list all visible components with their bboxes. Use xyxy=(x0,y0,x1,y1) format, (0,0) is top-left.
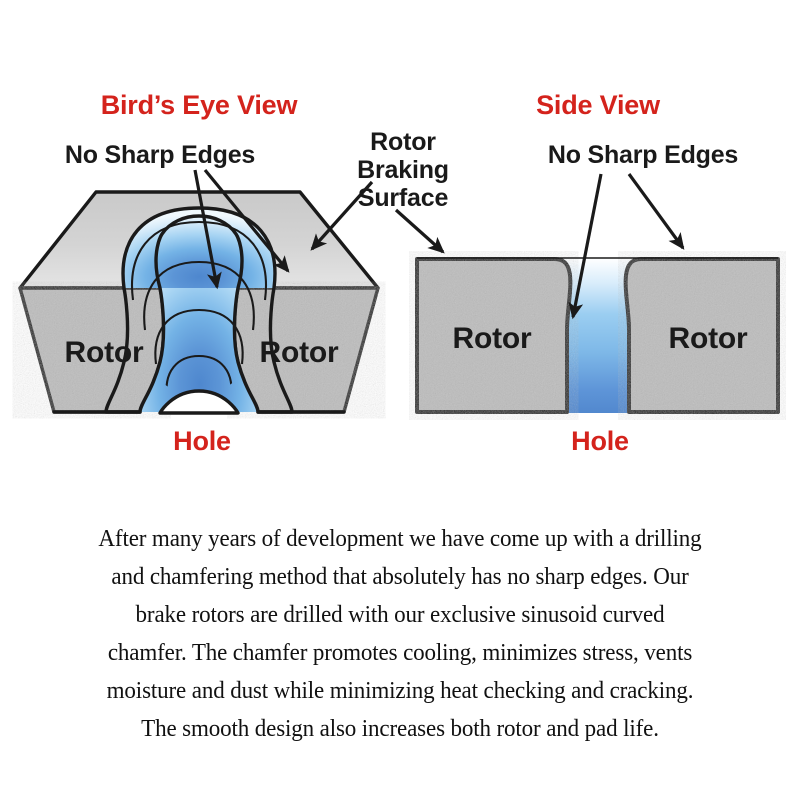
arrow-rotor-braking-surface-right xyxy=(396,210,443,252)
hole-label-left: Hole xyxy=(173,426,231,456)
callout-rotor-braking-surface-line1: Rotor xyxy=(370,128,436,156)
description-line-1: After many years of development we have … xyxy=(24,520,776,558)
callout-no-sharp-edges-right: No Sharp Edges xyxy=(548,141,738,169)
description-line-3: brake rotors are drilled with our exclus… xyxy=(24,596,776,634)
callout-rotor-braking-surface-line2: Braking xyxy=(357,156,449,184)
side-view-group: Rotor Rotor Side View No Sharp Edges Hol… xyxy=(396,90,778,456)
rotor-label-left-bev: Rotor xyxy=(65,336,145,369)
description-line-2: and chamfering method that absolutely ha… xyxy=(24,558,776,596)
description-paragraph: After many years of development we have … xyxy=(0,520,800,748)
callout-rotor-braking-surface-line3: Surface xyxy=(358,184,449,212)
arrow-no-sharp-edges-right-2 xyxy=(629,174,683,248)
rotor-label-left-side: Rotor xyxy=(453,322,533,355)
rotor-chamfer-illustration: Rotor Rotor Bird’s Eye View No Sharp Edg… xyxy=(0,0,800,500)
rotor-label-right-bev: Rotor xyxy=(260,336,340,369)
description-line-5: moisture and dust while minimizing heat … xyxy=(24,672,776,710)
rotor-label-right-side: Rotor xyxy=(669,322,749,355)
birds-eye-view-group: Rotor Rotor Bird’s Eye View No Sharp Edg… xyxy=(20,90,449,456)
birds-eye-view-title: Bird’s Eye View xyxy=(101,90,299,120)
description-line-6: The smooth design also increases both ro… xyxy=(24,710,776,748)
side-view-title: Side View xyxy=(536,90,661,120)
callout-no-sharp-edges-left: No Sharp Edges xyxy=(65,141,255,169)
hole-label-right: Hole xyxy=(571,426,629,456)
description-line-4: chamfer. The chamfer promotes cooling, m… xyxy=(24,634,776,672)
diagram-page: Rotor Rotor Bird’s Eye View No Sharp Edg… xyxy=(0,0,800,800)
